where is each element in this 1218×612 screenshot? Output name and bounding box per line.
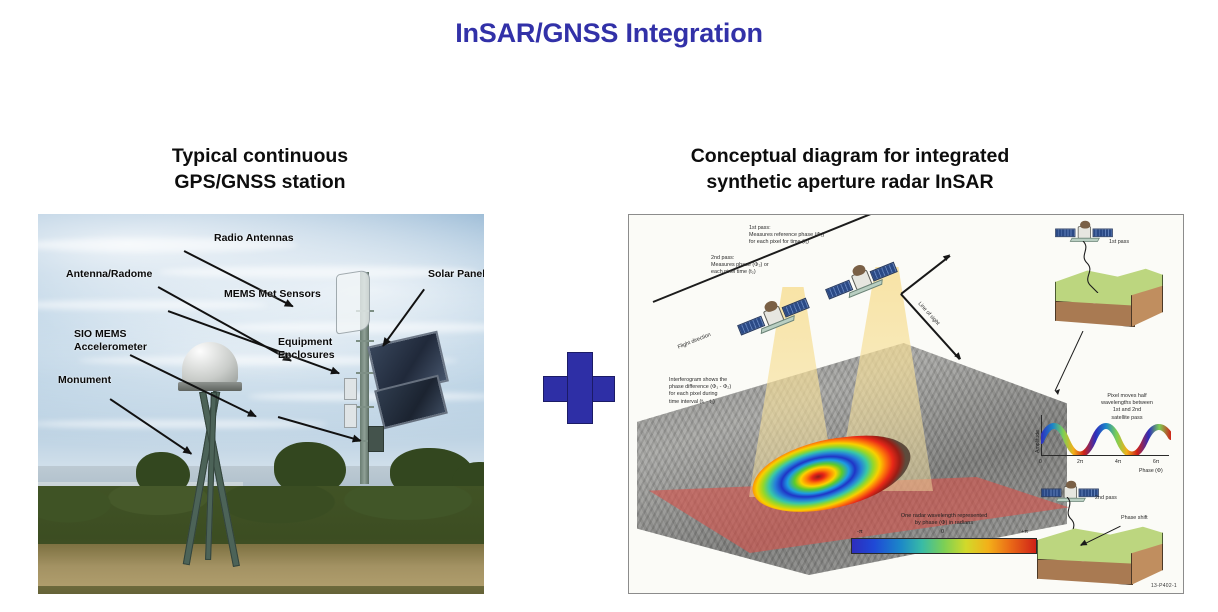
right-heading-line-2: synthetic aperture radar InSAR: [620, 169, 1080, 195]
foreground-ground: [38, 586, 484, 594]
mast-rung: [356, 372, 374, 374]
solar-array-left: [1055, 229, 1075, 238]
phase-waveform: [1041, 417, 1171, 455]
pass2-description: 2nd pass: Measures phase (Φ₂) or each pi…: [711, 255, 841, 277]
equipment-enclosure: [344, 378, 357, 400]
interferogram-description: Interferogram shows the phase difference…: [669, 377, 799, 406]
equipment-enclosure: [368, 426, 384, 452]
plus-symbol: [543, 352, 615, 424]
label-radio-antennas: Radio Antennas: [214, 232, 294, 245]
plot-ylabel: Amplitude: [1035, 430, 1041, 453]
satellite-dish-icon: [1080, 221, 1090, 229]
plot-xtick-1: 2π: [1077, 459, 1083, 465]
plot-x-axis: [1041, 455, 1169, 456]
satellite-icon-pass1-block: [1055, 225, 1113, 242]
label-equipment-enclosures: Equipment Enclosures: [278, 336, 335, 361]
pass1-block-label: 1st pass: [1109, 239, 1129, 246]
colorbar-ticks: -π 0 +π: [851, 529, 1037, 538]
mast-rung: [356, 340, 374, 342]
colorbar-gradient: [851, 538, 1037, 554]
label-sio-mems-line-1: SIO MEMS: [74, 328, 147, 341]
left-column-heading: Typical continuous GPS/GNSS station: [36, 143, 484, 195]
label-sio-mems-line-2: Accelerometer: [74, 341, 147, 354]
plot-xtick-0: 0: [1039, 459, 1042, 465]
plot-xtick-2: 4π: [1115, 459, 1121, 465]
left-heading-line-1: Typical continuous: [36, 143, 484, 169]
phase-colorbar-legend: One radar wavelength represented by phas…: [851, 513, 1037, 554]
mast-rung: [356, 406, 374, 408]
phase-shift-label: Phase shift: [1121, 515, 1148, 522]
plus-vertical-bar: [567, 352, 593, 424]
cloud-streak: [38, 420, 328, 428]
colorbar-tick-min: -π: [857, 529, 863, 535]
page-title: InSAR/GNSS Integration: [0, 18, 1218, 49]
satellite-dish-icon: [1066, 481, 1076, 489]
label-mems-met-sensors: MEMS Met Sensors: [224, 288, 321, 301]
insar-concept-diagram: Line of sight 1st pass: Measures referen…: [628, 214, 1184, 594]
pass1-description: 1st pass: Measures reference phase (Φ₁) …: [749, 225, 899, 247]
amplitude-phase-plot: 0 2π 4π 6π Phase (Φ) Amplitude: [1027, 413, 1177, 477]
label-antenna-radome: Antenna/Radome: [66, 268, 152, 281]
slide-canvas: InSAR/GNSS Integration Typical continuou…: [0, 0, 1218, 612]
colorbar-caption: One radar wavelength represented by phas…: [851, 513, 1037, 528]
equipment-enclosure: [344, 404, 357, 428]
connector-line-top-block: [1049, 331, 1089, 397]
label-equipment-line-1: Equipment: [278, 336, 335, 349]
solar-array-right: [870, 262, 898, 282]
colorbar-tick-max: +π: [1021, 529, 1028, 535]
right-heading-line-1: Conceptual diagram for integrated: [620, 143, 1080, 169]
label-solar-panel: Solar Panel: [428, 268, 484, 281]
figure-number: 13-P402-1: [1151, 583, 1177, 589]
gps-station-photo: Antenna/Radome Radio Antennas MEMS Met S…: [38, 214, 484, 594]
flight-direction-label: Flight direction: [677, 332, 712, 352]
plot-xlabel: Phase (Φ): [1139, 468, 1163, 474]
label-monument: Monument: [58, 374, 111, 387]
solar-array-left: [1041, 489, 1061, 498]
solar-array-right: [1093, 229, 1113, 238]
plot-xtick-3: 6π: [1153, 459, 1159, 465]
label-equipment-line-2: Enclosures: [278, 349, 335, 362]
radar-signal-squiggle-pass1: [1077, 241, 1111, 293]
radio-antenna-panel: [336, 269, 370, 334]
solar-array-right: [782, 298, 810, 318]
label-sio-mems-accelerometer: SIO MEMS Accelerometer: [74, 328, 147, 353]
left-heading-line-2: GPS/GNSS station: [36, 169, 484, 195]
right-column-heading: Conceptual diagram for integrated synthe…: [620, 143, 1080, 195]
colorbar-tick-mid: 0: [941, 529, 944, 535]
pass2-block-label: 2nd pass: [1095, 495, 1117, 502]
line-of-sight-arrow-up: [901, 255, 951, 294]
